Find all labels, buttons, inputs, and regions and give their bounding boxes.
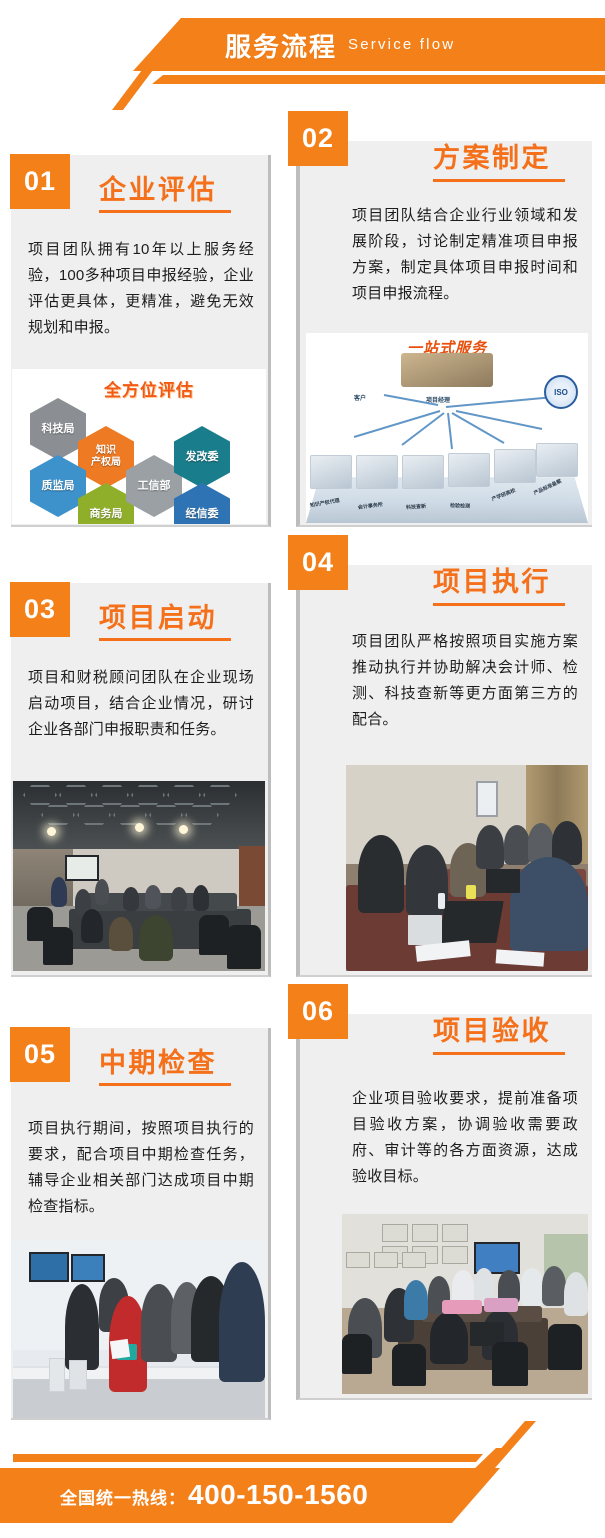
- footer-accent-stripe: [13, 1454, 483, 1462]
- card-06-number-badge: 06: [288, 984, 348, 1039]
- one-stop-photo-3: [402, 455, 444, 489]
- one-stop-photo-2: [356, 455, 398, 489]
- hex-node-shangwu: 商务局: [78, 483, 134, 524]
- hex-graphic-title: 全方位评估: [104, 376, 194, 401]
- footer-hotline-group: 全国统一热线： 400-150-1560: [60, 1479, 368, 1511]
- card-04-number-badge: 04: [288, 535, 348, 590]
- card-01-text: 项目团队拥有10年以上服务经验，100多种项目申报经验，企业评估更具体，更精准，…: [28, 237, 254, 341]
- process-card-05[interactable]: 05 中期检查 项目执行期间，按照项目执行的要求，配合项目中期检查任务，辅导企业…: [11, 1028, 271, 1420]
- card-05-number-badge: 05: [10, 1027, 70, 1082]
- one-stop-photo-1: [310, 455, 352, 489]
- one-stop-photo-4: [448, 453, 490, 487]
- card-01-number: 01: [24, 166, 56, 197]
- card-06-photo-acceptance-meeting: [342, 1214, 588, 1394]
- card-04-title: 项目执行: [433, 560, 551, 599]
- card-02-title-rule: [433, 179, 565, 182]
- hex-node-zhijian: 质监局: [30, 455, 86, 517]
- card-05-title-rule: [99, 1083, 231, 1086]
- card-04-title-rule: [433, 603, 565, 606]
- process-card-01[interactable]: 01 企业评估 项目团队拥有10年以上服务经验，100多种项目申报经验，企业评估…: [11, 155, 271, 527]
- card-05-text: 项目执行期间，按照项目执行的要求，配合项目中期检查任务，辅导企业相关部门达成项目…: [28, 1116, 254, 1220]
- process-card-04[interactable]: 04 项目执行 项目团队严格按照项目实施方案推动执行并协助解决会计师、检测、科技…: [296, 565, 592, 977]
- card-03-number-badge: 03: [10, 582, 70, 637]
- card-02-title: 方案制定: [433, 136, 551, 175]
- card-03-title-rule: [99, 638, 231, 641]
- footer-hotline-label: 全国统一热线：: [60, 1484, 186, 1509]
- hex-node-fagaiwei: 发改委: [174, 426, 230, 488]
- hex-node-jingxin: 经信委: [174, 483, 230, 524]
- card-04-text: 项目团队严格按照项目实施方案推动执行并协助解决会计师、检测、科技查新等更方面第三…: [352, 629, 578, 733]
- card-02-number-badge: 02: [288, 111, 348, 166]
- card-04-number: 04: [302, 547, 334, 578]
- hex-node-gongxin: 工信部: [126, 455, 182, 517]
- card-03-text: 项目和财税顾问团队在企业现场启动项目，结合企业情况，研讨企业各部门申报职责和任务…: [28, 665, 254, 743]
- card-01-title: 企业评估: [99, 168, 217, 207]
- card-06-number: 06: [302, 996, 334, 1027]
- process-card-02[interactable]: 02 方案制定 项目团队结合企业行业领域和发展阶段，讨论制定精准项目申报方案，制…: [296, 141, 592, 527]
- card-01-number-badge: 01: [10, 154, 70, 209]
- card-03-photo-meeting-room: [13, 781, 265, 971]
- card-02-one-stop-graphic: 一站式服务 客户 项目经理 ISO 知识产权代理 会计事务所 科: [306, 333, 588, 523]
- card-05-photo-site-visit: [13, 1240, 265, 1418]
- page-footer: 全国统一热线： 400-150-1560: [0, 1420, 605, 1538]
- card-05-number: 05: [24, 1039, 56, 1070]
- card-01-title-rule: [99, 210, 231, 213]
- card-01-hex-graphic: 全方位评估 科技局 知识 产权局 质监局 商务局 工信部 发改委 经信委: [12, 369, 266, 524]
- one-stop-label-4: 检验检测: [450, 502, 470, 510]
- card-05-title: 中期检查: [99, 1041, 217, 1080]
- hex-node-keji: 科技局: [30, 398, 86, 460]
- card-06-title: 项目验收: [433, 1009, 551, 1048]
- card-03-title: 项目启动: [99, 596, 217, 635]
- one-stop-iso-seal: ISO: [544, 375, 578, 409]
- footer-hotline-number[interactable]: 400-150-1560: [188, 1479, 368, 1511]
- process-card-06[interactable]: 06 项目验收 企业项目验收要求，提前准备项目验收方案，协调验收需要政府、审计等…: [296, 1014, 592, 1400]
- card-04-photo-working-session: [346, 765, 588, 971]
- card-03-number: 03: [24, 594, 56, 625]
- process-card-03[interactable]: 03 项目启动 项目和财税顾问团队在企业现场启动项目，结合企业情况，研讨企业各部…: [11, 583, 271, 977]
- card-02-number: 02: [302, 123, 334, 154]
- card-06-title-rule: [433, 1052, 565, 1055]
- hex-node-zscq: 知识 产权局: [78, 426, 134, 488]
- one-stop-photo-5: [494, 449, 536, 483]
- process-card-grid: 01 企业评估 项目团队拥有10年以上服务经验，100多种项目申报经验，企业评估…: [0, 0, 605, 1538]
- card-02-text: 项目团队结合企业行业领域和发展阶段，讨论制定精准项目申报方案，制定具体项目申报时…: [352, 203, 578, 307]
- one-stop-label-3: 科技查新: [406, 503, 426, 511]
- one-stop-photo-6: [536, 443, 578, 477]
- card-06-text: 企业项目验收要求，提前准备项目验收方案，协调验收需要政府、审计等的各方面资源，达…: [352, 1086, 578, 1190]
